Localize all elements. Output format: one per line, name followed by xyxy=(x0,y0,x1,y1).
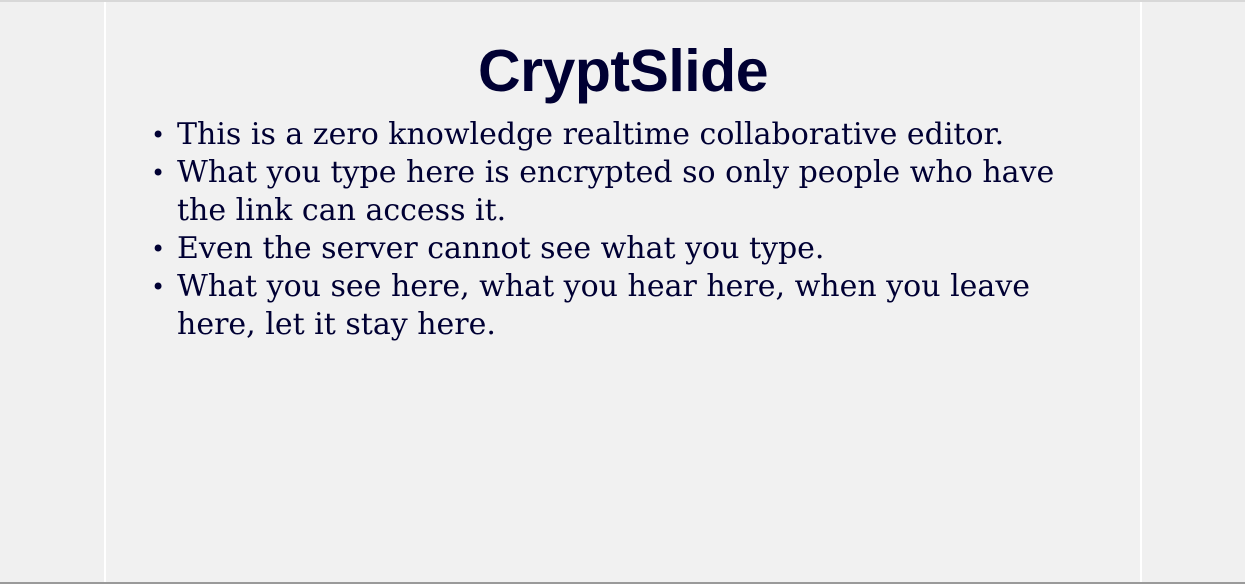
list-item[interactable]: • What you type here is encrypted so onl… xyxy=(106,154,1140,230)
list-item-text: This is a zero knowledge realtime collab… xyxy=(177,116,1009,154)
left-gutter xyxy=(0,0,105,584)
list-item[interactable]: • Even the server cannot see what you ty… xyxy=(106,230,1140,268)
list-item-text: What you see here, what you hear here, w… xyxy=(177,268,1053,344)
bullet-dot-icon: • xyxy=(151,154,163,192)
slide-bullet-list[interactable]: • This is a zero knowledge realtime coll… xyxy=(106,116,1140,344)
list-item-text: What you type here is encrypted so only … xyxy=(177,154,1095,230)
list-item[interactable]: • This is a zero knowledge realtime coll… xyxy=(106,116,1140,154)
bullet-dot-icon: • xyxy=(151,230,163,268)
top-edge-line xyxy=(0,0,1245,2)
right-slide-divider xyxy=(1140,2,1142,582)
list-item-text: Even the server cannot see what you type… xyxy=(177,230,1067,268)
slide-title[interactable]: CryptSlide xyxy=(106,38,1140,104)
left-slide-divider xyxy=(104,2,106,582)
bullet-dot-icon: • xyxy=(151,116,163,154)
right-gutter xyxy=(1142,0,1245,584)
bullet-dot-icon: • xyxy=(151,268,163,306)
slide-canvas[interactable]: CryptSlide • This is a zero knowledge re… xyxy=(106,2,1140,582)
list-item[interactable]: • What you see here, what you hear here,… xyxy=(106,268,1140,344)
